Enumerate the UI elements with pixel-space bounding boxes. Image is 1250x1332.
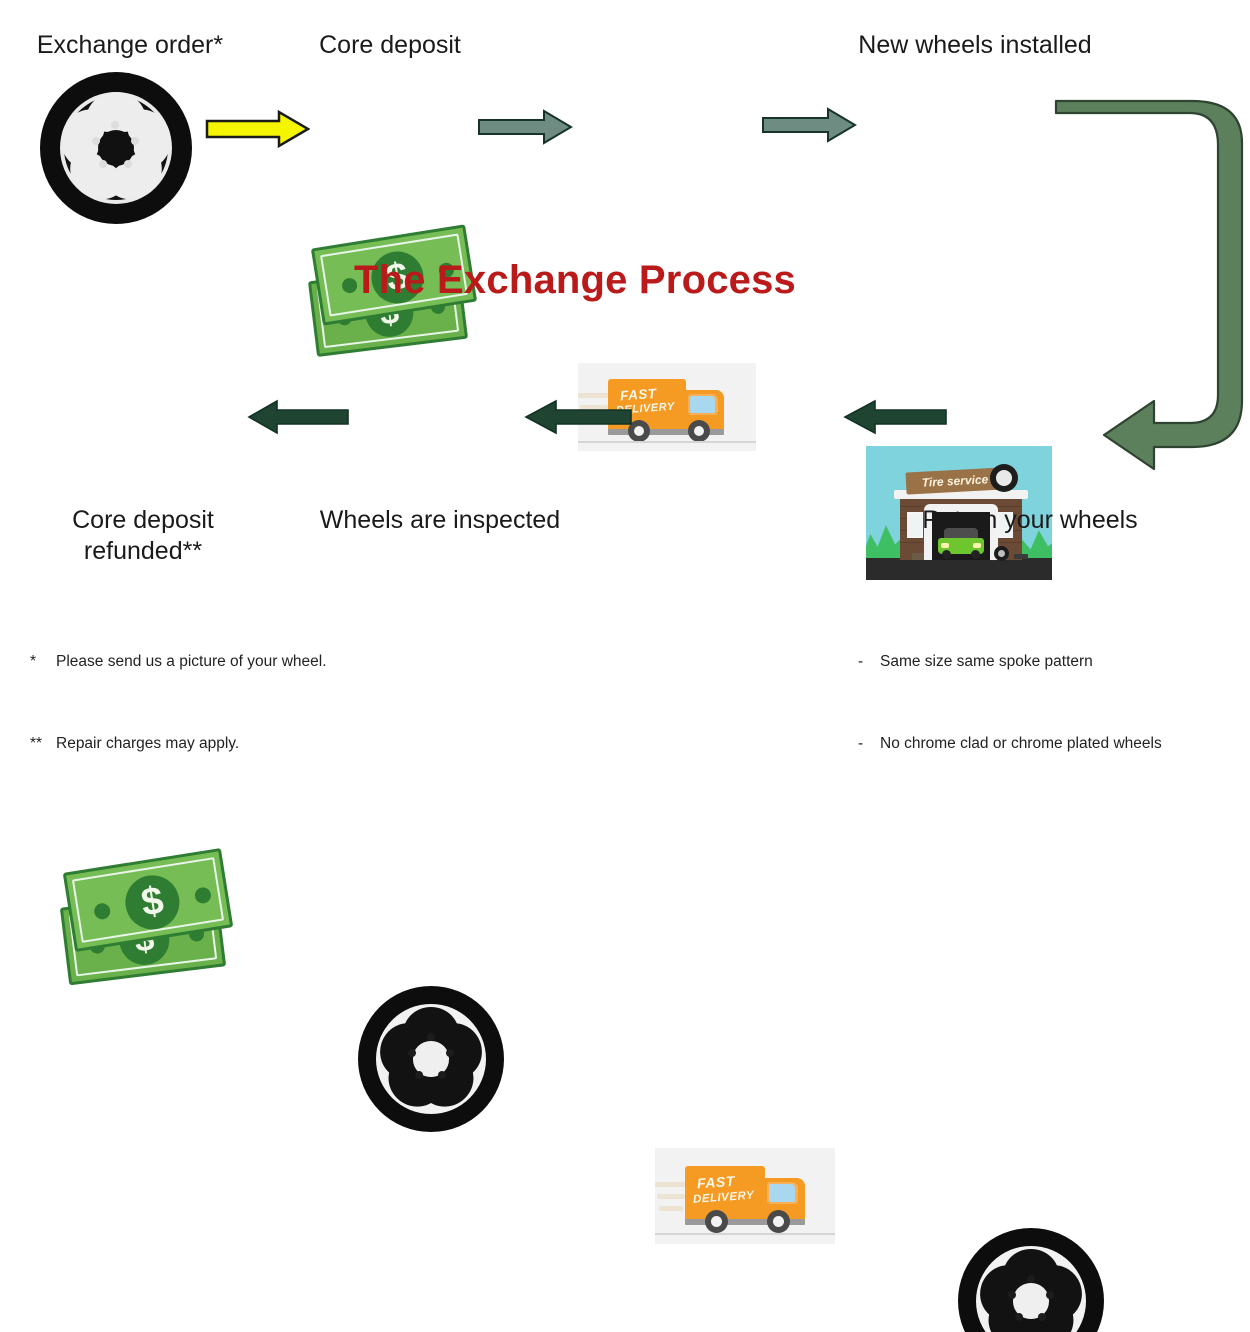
lug-nut (124, 160, 132, 168)
footnote-text: No chrome clad or chrome plated wheels (880, 730, 1162, 757)
ground-line (578, 441, 756, 443)
car-wheel (942, 550, 951, 559)
step-label-exchange-order: Exchange order* (0, 30, 260, 61)
van-wheel-front (688, 420, 710, 442)
arrow-order-to-deposit (205, 110, 310, 148)
footnote-marker: - (858, 730, 880, 757)
footnote-text: Please send us a picture of your wheel. (56, 648, 327, 675)
footnote-marker: - (858, 648, 880, 675)
step-label-new-wheels-installed: New wheels installed (790, 30, 1160, 61)
speed-line (657, 1194, 685, 1199)
footnote-item: ** Repair charges may apply. (30, 730, 500, 757)
van-wheel-hub (694, 426, 704, 436)
footnote-marker: * (30, 648, 56, 675)
sign-tire-rim (996, 470, 1012, 486)
exchange-process-diagram: Exchange order* Core deposit New wheels … (0, 0, 1250, 666)
ground-object (1014, 554, 1028, 559)
wheel-icon (958, 1228, 1104, 1332)
van-wheel-hub (711, 1216, 722, 1227)
speed-line (578, 393, 612, 398)
arrow-deposit-to-truck (478, 110, 573, 144)
footnote-text: Repair charges may apply. (56, 730, 239, 757)
footnote-item: - Same size same spoke pattern (858, 648, 1248, 675)
van-wheel-front (767, 1210, 790, 1233)
lug-nut (1015, 1313, 1023, 1321)
lug-nut (1038, 1313, 1046, 1321)
footnote-text: Same size same spoke pattern (880, 648, 1093, 675)
footnote-marker: ** (30, 730, 56, 757)
lug-nut (1027, 1275, 1035, 1283)
spare-tire-rim (998, 550, 1005, 557)
arrow-inspection-to-refund (247, 400, 349, 434)
speed-line (659, 1206, 683, 1211)
footnote-item: * Please send us a picture of your wheel… (30, 648, 500, 675)
arrow-return-to-truck (843, 400, 947, 434)
ground (866, 558, 1052, 580)
car-headlight (973, 543, 981, 548)
arrow-shop-to-return (1050, 105, 1250, 475)
step-label-core-deposit: Core deposit (270, 30, 510, 61)
money-icon: $ $ (58, 854, 238, 986)
step-label-wheels-are-inspected: Wheels are inspected (295, 505, 585, 536)
sign-tire-icon (990, 464, 1018, 492)
lug-nut (438, 1071, 446, 1079)
lug-nut (1008, 1291, 1016, 1299)
delivery-truck-icon: FAST DELIVERY (655, 1148, 835, 1244)
arrow-truck-to-inspection (524, 400, 632, 434)
footnotes-right: - Same size same spoke pattern - No chro… (858, 594, 1248, 811)
van-wheel-rear (705, 1210, 728, 1233)
step-label-return-your-wheels: Return your wheels (895, 505, 1165, 536)
lug-nut (427, 1033, 435, 1041)
dollar-sign: $ (122, 871, 184, 933)
wheel-icon (40, 72, 192, 224)
lug-nut (415, 1071, 423, 1079)
ground-object (912, 553, 924, 560)
page-title: The Exchange Process (275, 258, 875, 303)
wheel-icon (358, 986, 504, 1132)
lug-nut (446, 1049, 454, 1057)
ground-line (655, 1233, 835, 1235)
lug-nut (408, 1049, 416, 1057)
spare-tire (994, 546, 1009, 561)
van-wheel-hub (634, 426, 644, 436)
van-wheel-hub (773, 1216, 784, 1227)
footnote-item: - No chrome clad or chrome plated wheels (858, 730, 1248, 757)
speed-line (655, 1182, 689, 1187)
footnotes-left: * Please send us a picture of your wheel… (30, 594, 500, 811)
lug-nut (1046, 1291, 1054, 1299)
car-headlight (941, 543, 949, 548)
step-label-core-deposit-refunded: Core deposit refunded** (28, 505, 258, 566)
car-wheel (971, 550, 980, 559)
arrow-truck-to-shop (762, 108, 857, 142)
